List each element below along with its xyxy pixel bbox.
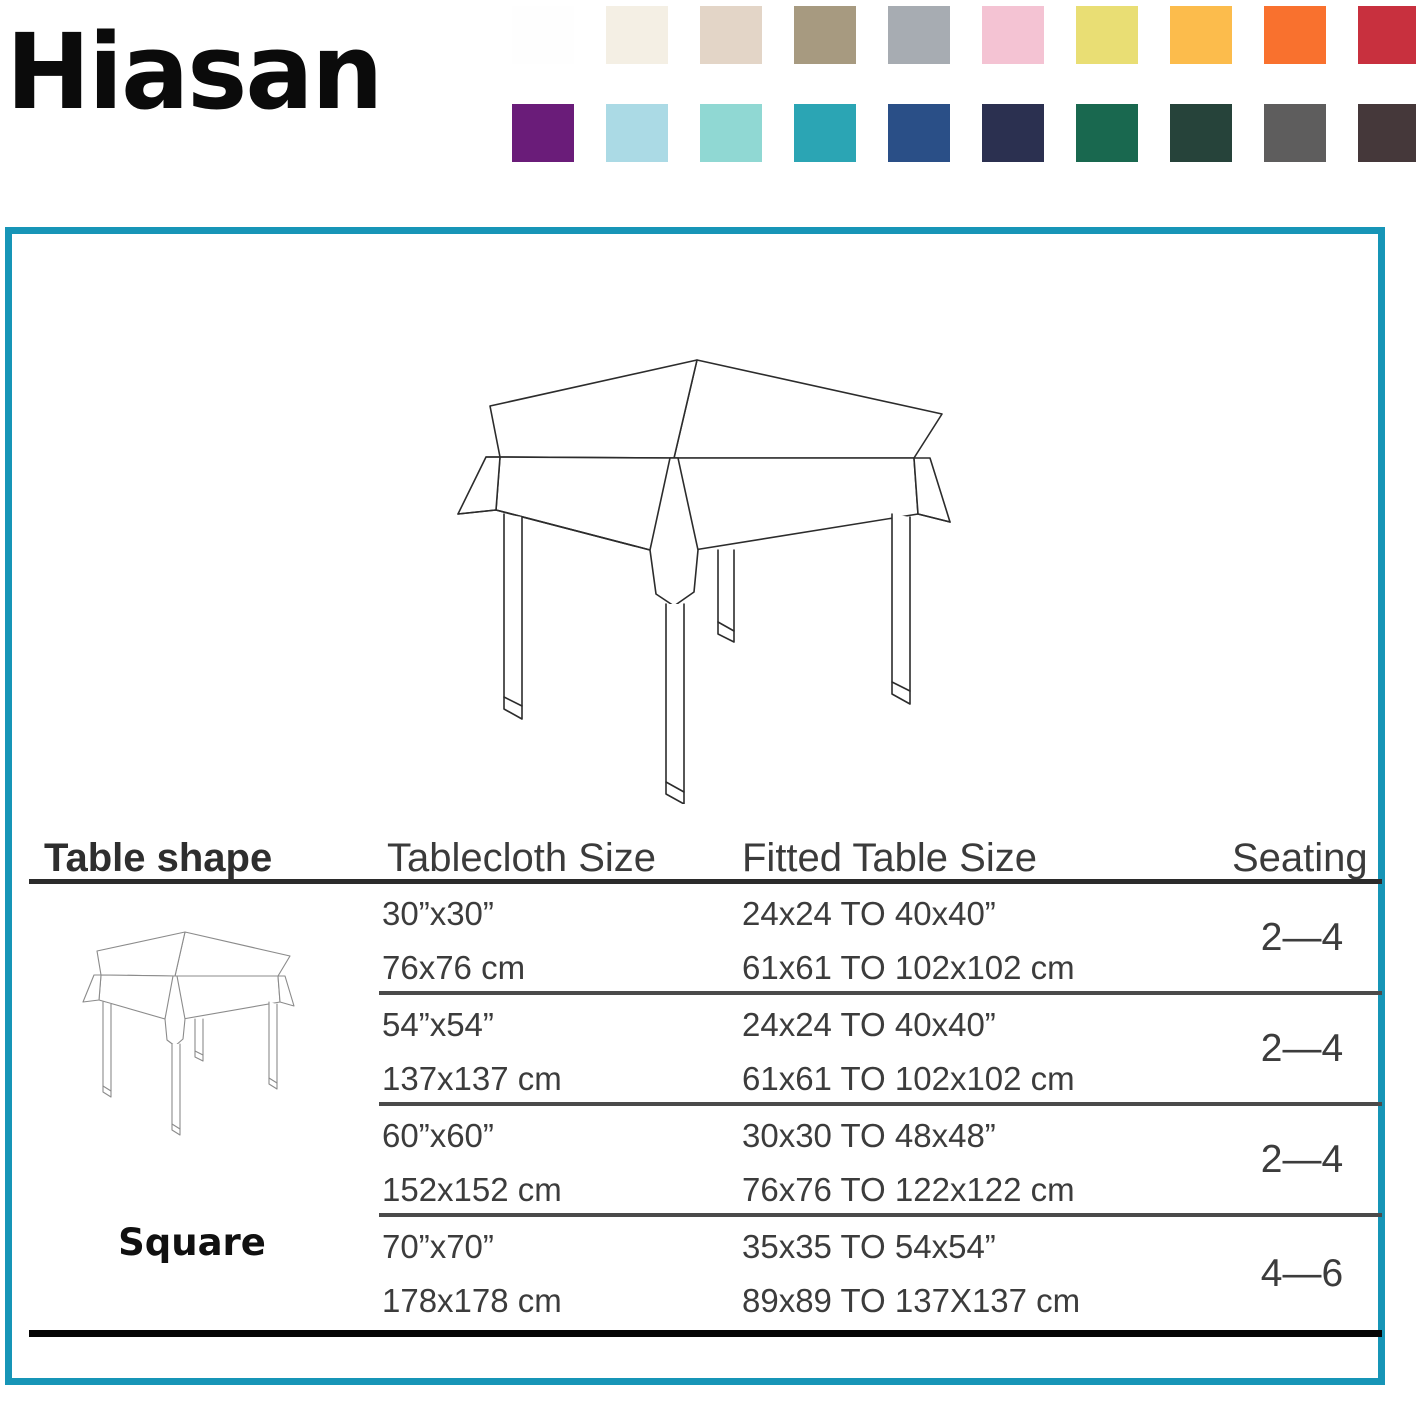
size-chart-page: Hiasan xyxy=(0,0,1416,1402)
cell-fitted-table-size-cm: 61x61 TO 102x102 cm xyxy=(742,931,1075,985)
color-swatch-hunter-green[interactable] xyxy=(1170,104,1232,162)
color-swatch-light-blue[interactable] xyxy=(606,104,668,162)
column-header-fitted-table-size: Fitted Table Size xyxy=(742,837,1037,879)
color-swatch-marigold[interactable] xyxy=(1170,6,1232,64)
cell-fitted-table-size-cm: 76x76 TO 122x122 cm xyxy=(742,1153,1075,1207)
color-swatch-denim-blue[interactable] xyxy=(888,104,950,162)
color-swatch-row-bottom xyxy=(512,104,1416,162)
cell-seating: 2—4 xyxy=(1227,995,1377,1102)
cell-fitted-table-size-inches: 30x30 TO 48x48” xyxy=(742,1106,1075,1153)
color-swatch-orange[interactable] xyxy=(1264,6,1326,64)
color-swatch-grey[interactable] xyxy=(888,6,950,64)
color-swatch-purple[interactable] xyxy=(512,104,574,162)
table-row: 60”x60”152x152 cm30x30 TO 48x48”76x76 TO… xyxy=(27,1106,1377,1213)
cell-tablecloth-size: 70”x70”178x178 cm xyxy=(382,1217,562,1317)
cell-tablecloth-size-cm: 178x178 cm xyxy=(382,1264,562,1318)
cell-tablecloth-size-inches: 30”x30” xyxy=(382,884,525,931)
brand-name: Hiasan xyxy=(6,20,381,124)
cell-tablecloth-size-cm: 137x137 cm xyxy=(382,1042,562,1096)
cell-tablecloth-size: 30”x30”76x76 cm xyxy=(382,884,525,984)
color-swatch-red[interactable] xyxy=(1358,6,1416,64)
color-swatch-beige[interactable] xyxy=(700,6,762,64)
square-table-with-tablecloth-illustration xyxy=(442,354,982,804)
size-specification-table: Table shape Tablecloth Size Fitted Table… xyxy=(27,817,1377,1337)
cell-tablecloth-size-cm: 76x76 cm xyxy=(382,931,525,985)
color-swatch-charcoal-grey[interactable] xyxy=(1264,104,1326,162)
color-swatch-aqua[interactable] xyxy=(700,104,762,162)
column-header-tablecloth-size: Tablecloth Size xyxy=(387,837,656,879)
size-chart-panel: Square Table shape Tablecloth Size Fitte… xyxy=(5,227,1385,1385)
cell-fitted-table-size-inches: 35x35 TO 54x54” xyxy=(742,1217,1080,1264)
color-swatch-panel xyxy=(512,4,1416,164)
cell-fitted-table-size: 24x24 TO 40x40”61x61 TO 102x102 cm xyxy=(742,884,1075,984)
color-swatch-teal[interactable] xyxy=(794,104,856,162)
color-swatch-dark-brown[interactable] xyxy=(1358,104,1416,162)
cell-seating: 4—6 xyxy=(1227,1217,1377,1330)
cell-tablecloth-size: 54”x54”137x137 cm xyxy=(382,995,562,1095)
cell-fitted-table-size-cm: 89x89 TO 137X137 cm xyxy=(742,1264,1080,1318)
cell-fitted-table-size-cm: 61x61 TO 102x102 cm xyxy=(742,1042,1075,1096)
color-swatch-row-top xyxy=(512,6,1416,64)
cell-fitted-table-size: 30x30 TO 48x48”76x76 TO 122x122 cm xyxy=(742,1106,1075,1206)
cell-tablecloth-size-inches: 54”x54” xyxy=(382,995,562,1042)
color-swatch-ivory[interactable] xyxy=(606,6,668,64)
color-swatch-yellow[interactable] xyxy=(1076,6,1138,64)
column-header-table-shape: Table shape xyxy=(44,837,272,879)
cell-fitted-table-size-inches: 24x24 TO 40x40” xyxy=(742,995,1075,1042)
column-header-seating: Seating xyxy=(1232,837,1368,879)
cell-tablecloth-size: 60”x60”152x152 cm xyxy=(382,1106,562,1206)
brand-logo: Hiasan xyxy=(6,2,476,142)
cell-seating: 2—4 xyxy=(1227,1106,1377,1213)
color-swatch-navy[interactable] xyxy=(982,104,1044,162)
color-swatch-taupe[interactable] xyxy=(794,6,856,64)
table-row: 54”x54”137x137 cm24x24 TO 40x40”61x61 TO… xyxy=(27,995,1377,1102)
table-row: 30”x30”76x76 cm24x24 TO 40x40”61x61 TO 1… xyxy=(27,884,1377,991)
cell-tablecloth-size-inches: 70”x70” xyxy=(382,1217,562,1264)
color-swatch-white[interactable] xyxy=(512,6,574,64)
cell-tablecloth-size-inches: 60”x60” xyxy=(382,1106,562,1153)
cell-fitted-table-size-inches: 24x24 TO 40x40” xyxy=(742,884,1075,931)
color-swatch-pink[interactable] xyxy=(982,6,1044,64)
cell-seating: 2—4 xyxy=(1227,884,1377,991)
table-body: 30”x30”76x76 cm24x24 TO 40x40”61x61 TO 1… xyxy=(27,884,1377,1330)
table-header-row: Table shape Tablecloth Size Fitted Table… xyxy=(27,817,1377,879)
cell-fitted-table-size: 24x24 TO 40x40”61x61 TO 102x102 cm xyxy=(742,995,1075,1095)
table-row: 70”x70”178x178 cm35x35 TO 54x54”89x89 TO… xyxy=(27,1217,1377,1330)
color-swatch-emerald[interactable] xyxy=(1076,104,1138,162)
cell-tablecloth-size-cm: 152x152 cm xyxy=(382,1153,562,1207)
table-bottom-border xyxy=(29,1330,1382,1337)
cell-fitted-table-size: 35x35 TO 54x54”89x89 TO 137X137 cm xyxy=(742,1217,1080,1317)
